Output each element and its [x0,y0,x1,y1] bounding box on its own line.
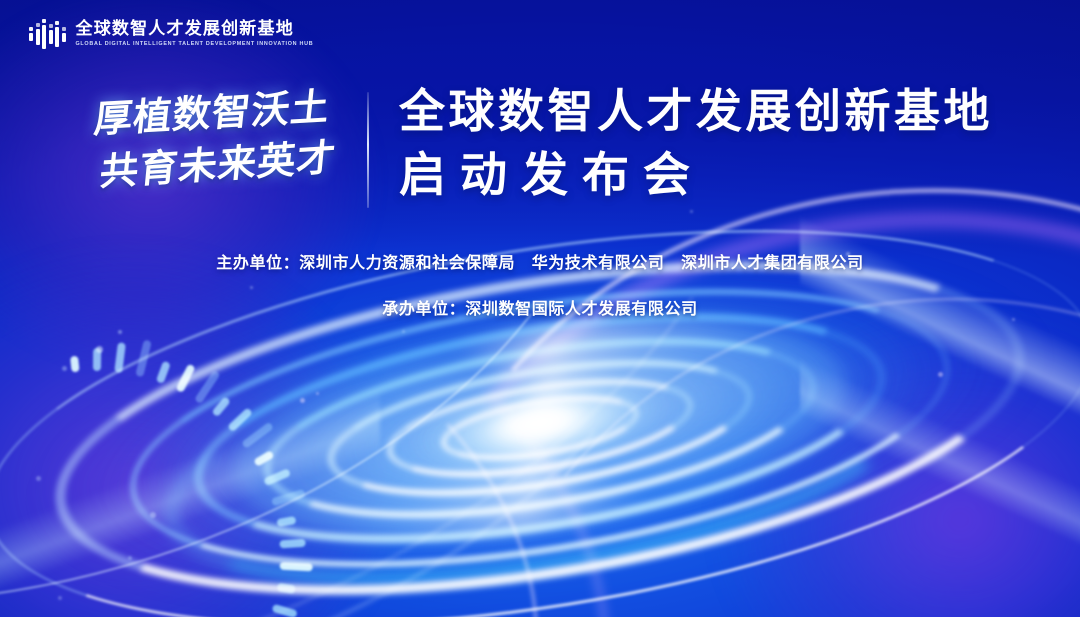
poster-stage: 全球数智人才发展创新基地 GLOBAL DIGITAL INTELLIGENT … [0,0,1080,617]
hero-block: 厚植数智沃土 共育未来英才 全球数智人才发展创新基地 启动发布会 [0,88,1080,208]
event-title-line-1: 全球数智人才发展创新基地 [399,88,993,134]
logo-bar-column-4 [49,24,53,44]
logo-bar-column-5 [55,21,59,47]
calligraphy-line-1: 厚植数智沃土 [92,87,332,138]
organizers-block: 主办单位：深圳市人力资源和社会保障局 华为技术有限公司 深圳市人才集团有限公司 … [0,249,1080,319]
logo-bar-column-6 [62,27,66,42]
vertical-divider [367,92,369,208]
brand-logo[interactable]: 全球数智人才发展创新基地 GLOBAL DIGITAL INTELLIGENT … [29,20,313,48]
event-title-block: 全球数智人才发展创新基地 启动发布会 [399,88,993,198]
calligraphy-line-2: 共育未来英才 [98,138,338,191]
host-organizations-line: 主办单位：深圳市人力资源和社会保障局 华为技术有限公司 深圳市人才集团有限公司 [216,249,863,273]
equalizer-bars-logo-icon [29,20,66,48]
event-title-line-2: 启动发布会 [399,151,993,198]
logo-bar-column-2 [36,23,40,45]
logo-bar-column-1 [29,27,33,41]
brand-logo-title-cn: 全球数智人才发展创新基地 [76,20,314,39]
logo-bar-column-3 [42,19,46,49]
executive-organization-line: 承办单位：深圳数智国际人才发展有限公司 [382,295,697,319]
brand-logo-text: 全球数智人才发展创新基地 GLOBAL DIGITAL INTELLIGENT … [76,20,314,48]
calligraphy-slogan: 厚植数智沃土 共育未来英才 [87,88,337,184]
brand-logo-title-en: GLOBAL DIGITAL INTELLIGENT TALENT DEVELO… [76,42,314,48]
